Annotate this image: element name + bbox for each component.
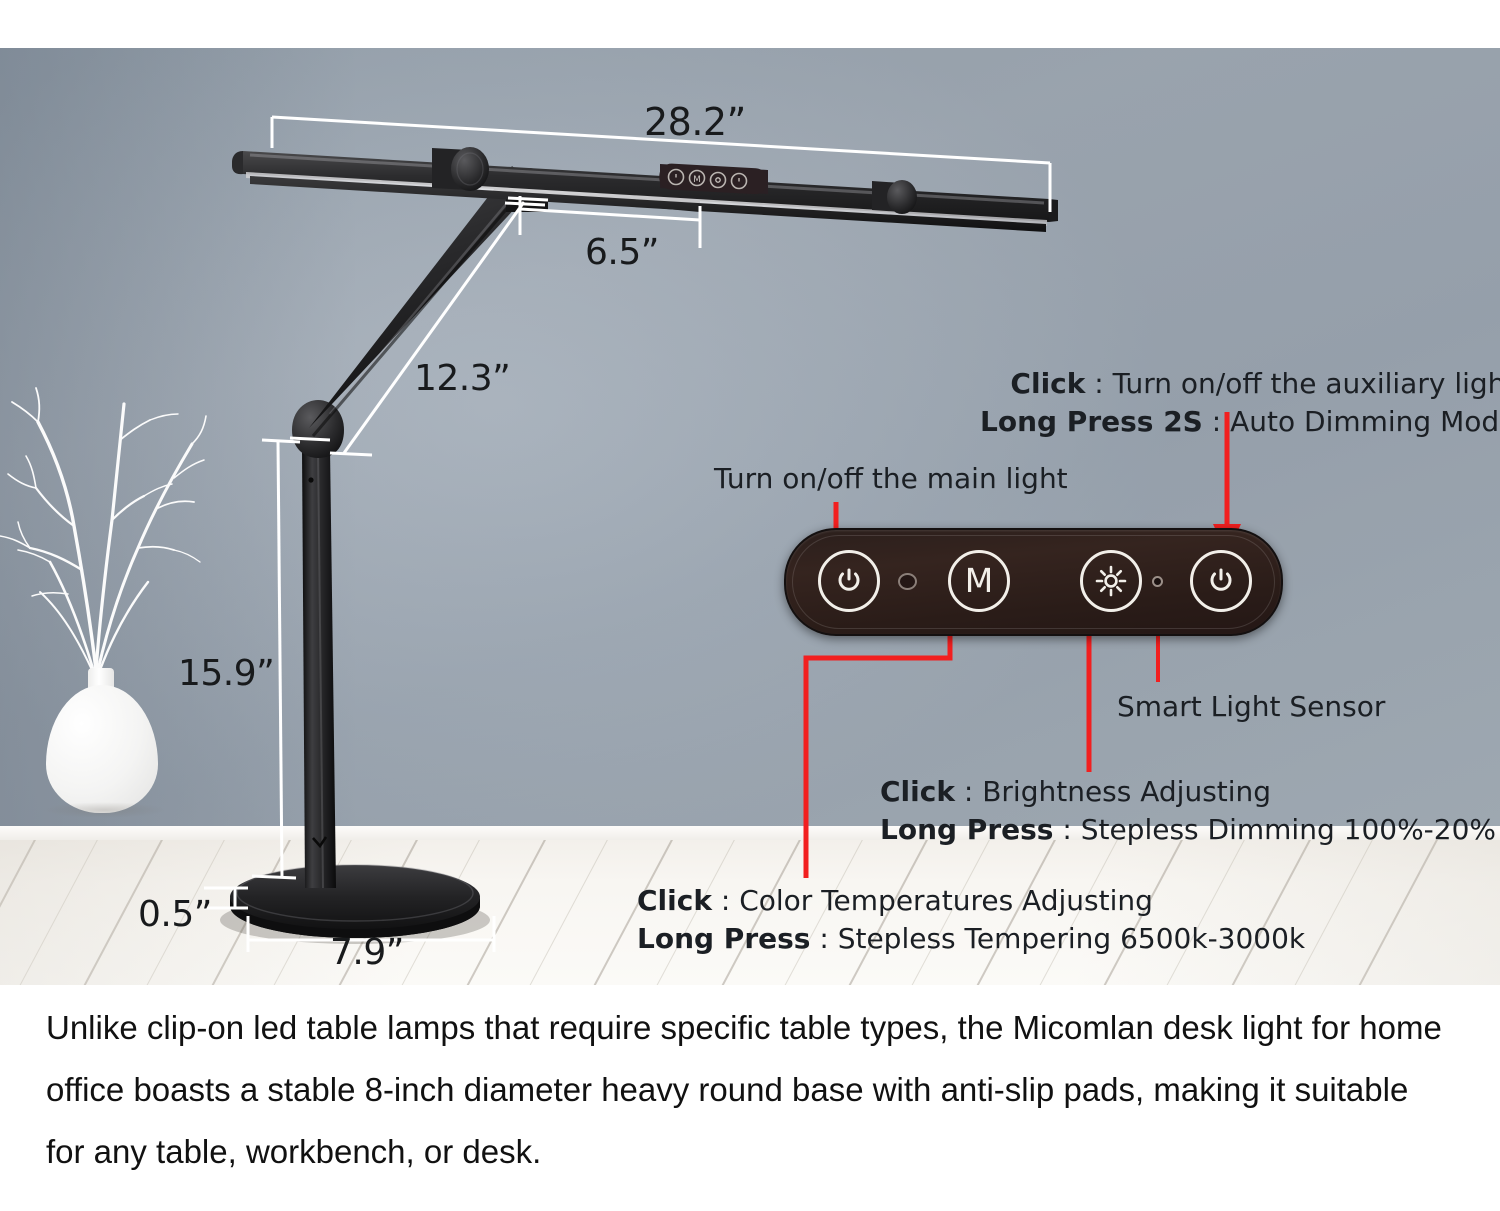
annotation-color-temperature: Click : Color Temperatures Adjusting Lon… — [637, 882, 1305, 958]
annotation-text: Color Temperatures Adjusting — [739, 884, 1153, 917]
annotation-auxiliary-line2: Long Press 2S : Auto Dimming Mode — [980, 403, 1500, 441]
power-icon — [834, 566, 864, 596]
annotation-text: Stepless Tempering 6500k-3000k — [838, 922, 1305, 955]
brightness-icon — [1094, 564, 1128, 598]
annotation-colortemp-line2: Long Press : Stepless Tempering 6500k-30… — [637, 920, 1305, 958]
annotation-smart-light-sensor: Smart Light Sensor — [1117, 690, 1385, 723]
power-auxiliary-button[interactable] — [1190, 550, 1252, 612]
annotation-click-label: Click — [1010, 367, 1085, 400]
annotation-separator: : — [955, 775, 982, 808]
annotation-text: Brightness Adjusting — [982, 775, 1271, 808]
annotation-separator: : — [1085, 367, 1112, 400]
led-indicator — [898, 573, 917, 590]
annotation-separator: : — [712, 884, 739, 917]
annotation-text: Turn on/off the auxiliary light — [1113, 367, 1500, 400]
annotation-click-label: Click — [637, 884, 712, 917]
annotation-text: Stepless Dimming 100%-20% — [1081, 813, 1496, 846]
annotation-text: Auto Dimming Mode — [1230, 405, 1500, 438]
brightness-button[interactable] — [1080, 550, 1142, 612]
annotation-main-light: Turn on/off the main light — [714, 462, 1068, 495]
annotation-brightness: Click : Brightness Adjusting Long Press … — [880, 773, 1496, 849]
annotation-longpress-label: Long Press 2S — [980, 405, 1203, 438]
annotation-brightness-line1: Click : Brightness Adjusting — [880, 773, 1496, 811]
annotation-longpress-label: Long Press — [880, 813, 1053, 846]
light-sensor-dot — [1152, 576, 1163, 587]
lamp-control-panel[interactable]: M — [784, 528, 1283, 636]
power-main-button[interactable] — [818, 550, 880, 612]
annotation-separator: : — [1053, 813, 1080, 846]
mode-button[interactable]: M — [948, 550, 1010, 612]
annotation-separator: : — [1203, 405, 1230, 438]
product-description-caption: Unlike clip-on led table lamps that requ… — [0, 997, 1500, 1211]
m-letter-icon: M — [965, 564, 993, 597]
annotation-auxiliary-light: Click : Turn on/off the auxiliary light … — [980, 365, 1500, 441]
photo-bottom-white-band — [0, 985, 1500, 997]
annotation-colortemp-line1: Click : Color Temperatures Adjusting — [637, 882, 1305, 920]
product-photo-scene: M — [0, 0, 1500, 985]
annotation-brightness-line2: Long Press : Stepless Dimming 100%-20% — [880, 811, 1496, 849]
annotation-separator: : — [810, 922, 837, 955]
annotation-auxiliary-line1: Click : Turn on/off the auxiliary light — [980, 365, 1500, 403]
annotation-longpress-label: Long Press — [637, 922, 810, 955]
annotation-click-label: Click — [880, 775, 955, 808]
caption-paragraph: Unlike clip-on led table lamps that requ… — [0, 997, 1500, 1183]
power-icon — [1206, 566, 1236, 596]
